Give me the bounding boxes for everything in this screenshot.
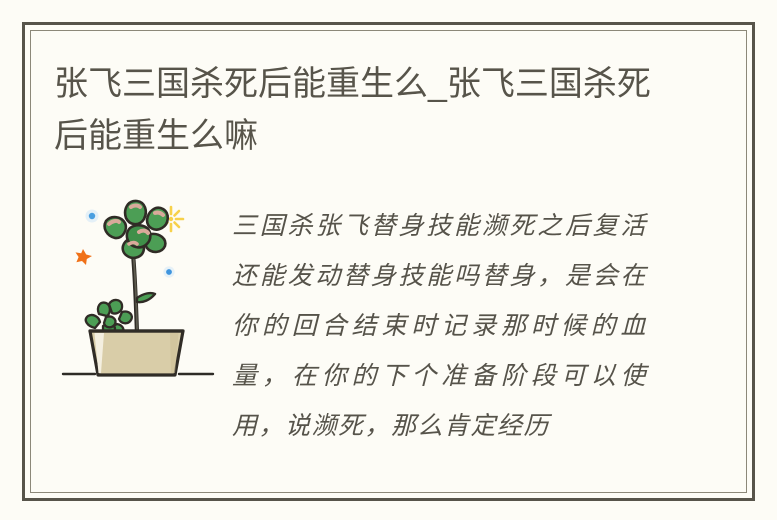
blue-dot-left-icon [86,210,99,223]
page-title: 张飞三国杀死后能重生么_张飞三国杀死后能重生么嘛 [54,58,674,162]
blue-dot-right-icon [163,266,174,277]
potted-cactus-illustration [51,194,226,379]
article-body-text: 三国杀张飞替身技能濒死之后复活还能发动替身技能吗替身，是会在你的回合结束时记录那… [232,201,647,451]
page-root: 张飞三国杀死后能重生么_张飞三国杀死后能重生么嘛 [0,0,777,520]
article-card: 张飞三国杀死后能重生么_张飞三国杀死后能重生么嘛 [31,31,746,492]
cactus-top-cluster [105,201,168,258]
article-body-area: 三国杀张飞替身技能濒死之后复活还能发动替身技能吗替身，是会在你的回合结束时记录那… [31,186,746,486]
orange-star-icon [76,249,93,265]
plant-pot [90,331,183,375]
cactus-side-leaf [137,293,155,302]
